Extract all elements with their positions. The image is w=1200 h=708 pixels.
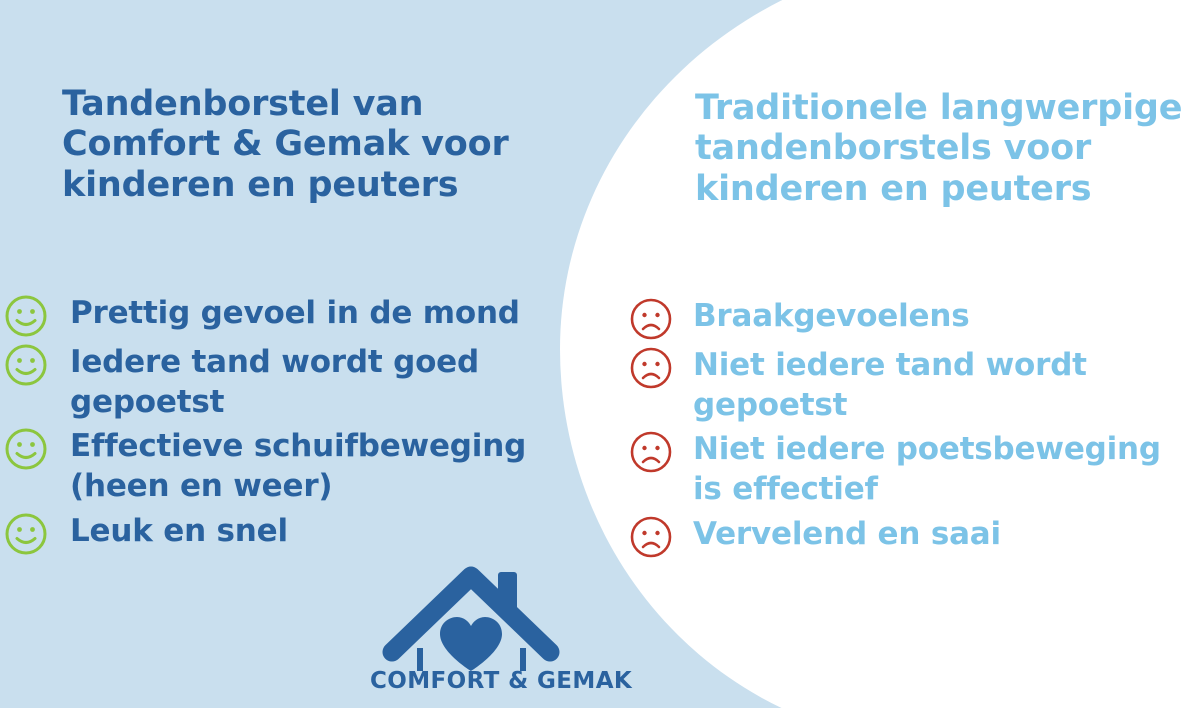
smiley-face-icon [4, 427, 48, 471]
list-item-label: Effectieve schuifbeweging (heen en weer) [70, 426, 570, 506]
list-item-label: Braakgevoelens [693, 296, 1200, 337]
list-item: Vervelend en saai [620, 514, 1200, 559]
house-with-heart-icon [370, 556, 585, 675]
list-item: Niet iedere poetsbeweging is effectief [620, 429, 1200, 509]
list-item-label: Vervelend en saai [693, 514, 1200, 555]
list-item: Effectieve schuifbeweging (heen en weer) [0, 426, 600, 506]
drawbacks-list: Braakgevoelens Niet iedere tand wordt ge… [620, 296, 1200, 563]
brand-name: COMFORT & GEMAK [370, 668, 585, 694]
list-item-label: Niet iedere poetsbeweging is effectief [693, 429, 1200, 509]
sad-face-icon [629, 515, 673, 559]
list-item: Prettig gevoel in de mond [0, 293, 600, 338]
comparison-infographic: Tandenborstel van Comfort & Gemak voor k… [0, 0, 1200, 708]
list-item-label: Prettig gevoel in de mond [70, 293, 570, 334]
list-item-label: Niet iedere tand wordt gepoetst [693, 345, 1200, 425]
list-item-label: Iedere tand wordt goed gepoetst [70, 342, 570, 422]
smiley-face-icon [4, 294, 48, 338]
list-item-label: Leuk en snel [70, 511, 570, 552]
list-item: Iedere tand wordt goed gepoetst [0, 342, 600, 422]
left-column-heading: Tandenborstel van Comfort & Gemak voor k… [62, 84, 532, 205]
smiley-face-icon [4, 512, 48, 556]
sad-face-icon [629, 346, 673, 390]
benefits-list: Prettig gevoel in de mond Iedere tand wo… [0, 293, 600, 560]
right-column-heading: Traditionele langwerpige tandenborstels … [695, 88, 1195, 209]
list-item: Leuk en snel [0, 511, 600, 556]
list-item: Braakgevoelens [620, 296, 1200, 341]
smiley-face-icon [4, 343, 48, 387]
sad-face-icon [629, 430, 673, 474]
right-column: Traditionele langwerpige tandenborstels … [620, 0, 1200, 708]
sad-face-icon [629, 297, 673, 341]
brand-logo: COMFORT & GEMAK [370, 556, 585, 708]
list-item: Niet iedere tand wordt gepoetst [620, 345, 1200, 425]
